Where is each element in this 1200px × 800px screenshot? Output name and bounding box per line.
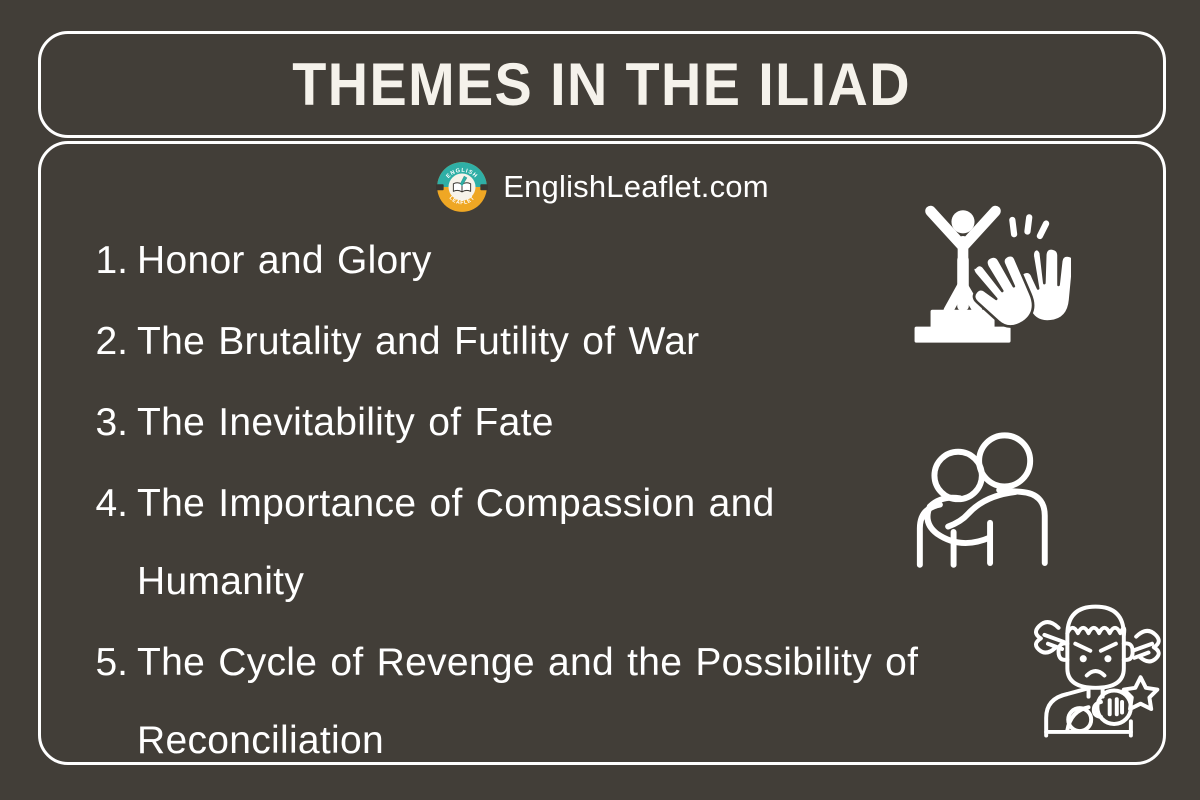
- content-panel: ENGLISH LEAFLET EnglishLeaflet.com 1. Ho…: [38, 141, 1166, 765]
- list-item-number: 2.: [75, 303, 137, 381]
- themes-list: 1. Honor and Glory 2. The Brutality and …: [75, 222, 975, 765]
- page-title: THEMES IN THE ILIAD: [293, 55, 912, 115]
- list-item-number: 1.: [75, 222, 137, 300]
- list-item-number: 3.: [75, 384, 137, 462]
- title-banner: THEMES IN THE ILIAD: [38, 31, 1166, 138]
- two-people-hugging-icon: [908, 427, 1063, 575]
- list-item: 3. The Inevitability of Fate: [75, 384, 975, 462]
- list-item: 1. Honor and Glory: [75, 222, 975, 300]
- list-item: 2. The Brutality and Futility of War: [75, 303, 975, 381]
- list-item-number: 4.: [75, 465, 137, 543]
- podium-celebration-applause-icon: [911, 200, 1071, 352]
- angry-face-steam-fist-icon: [1025, 589, 1166, 739]
- list-item-label: The Importance of Compassion and Humanit…: [137, 465, 897, 621]
- list-item-number: 5.: [75, 624, 137, 702]
- list-item-label: The Cycle of Revenge and the Possibility…: [137, 624, 975, 765]
- list-item: 5. The Cycle of Revenge and the Possibil…: [75, 624, 975, 765]
- brand-name: EnglishLeaflet.com: [503, 169, 769, 205]
- list-item: 4. The Importance of Compassion and Huma…: [75, 465, 975, 621]
- list-item-label: Honor and Glory: [137, 222, 975, 300]
- poster-canvas: THEMES IN THE ILIAD: [0, 0, 1200, 800]
- list-item-label: The Brutality and Futility of War: [137, 303, 975, 381]
- english-leaflet-badge-icon: ENGLISH LEAFLET: [435, 160, 489, 214]
- list-item-label: The Inevitability of Fate: [137, 384, 975, 462]
